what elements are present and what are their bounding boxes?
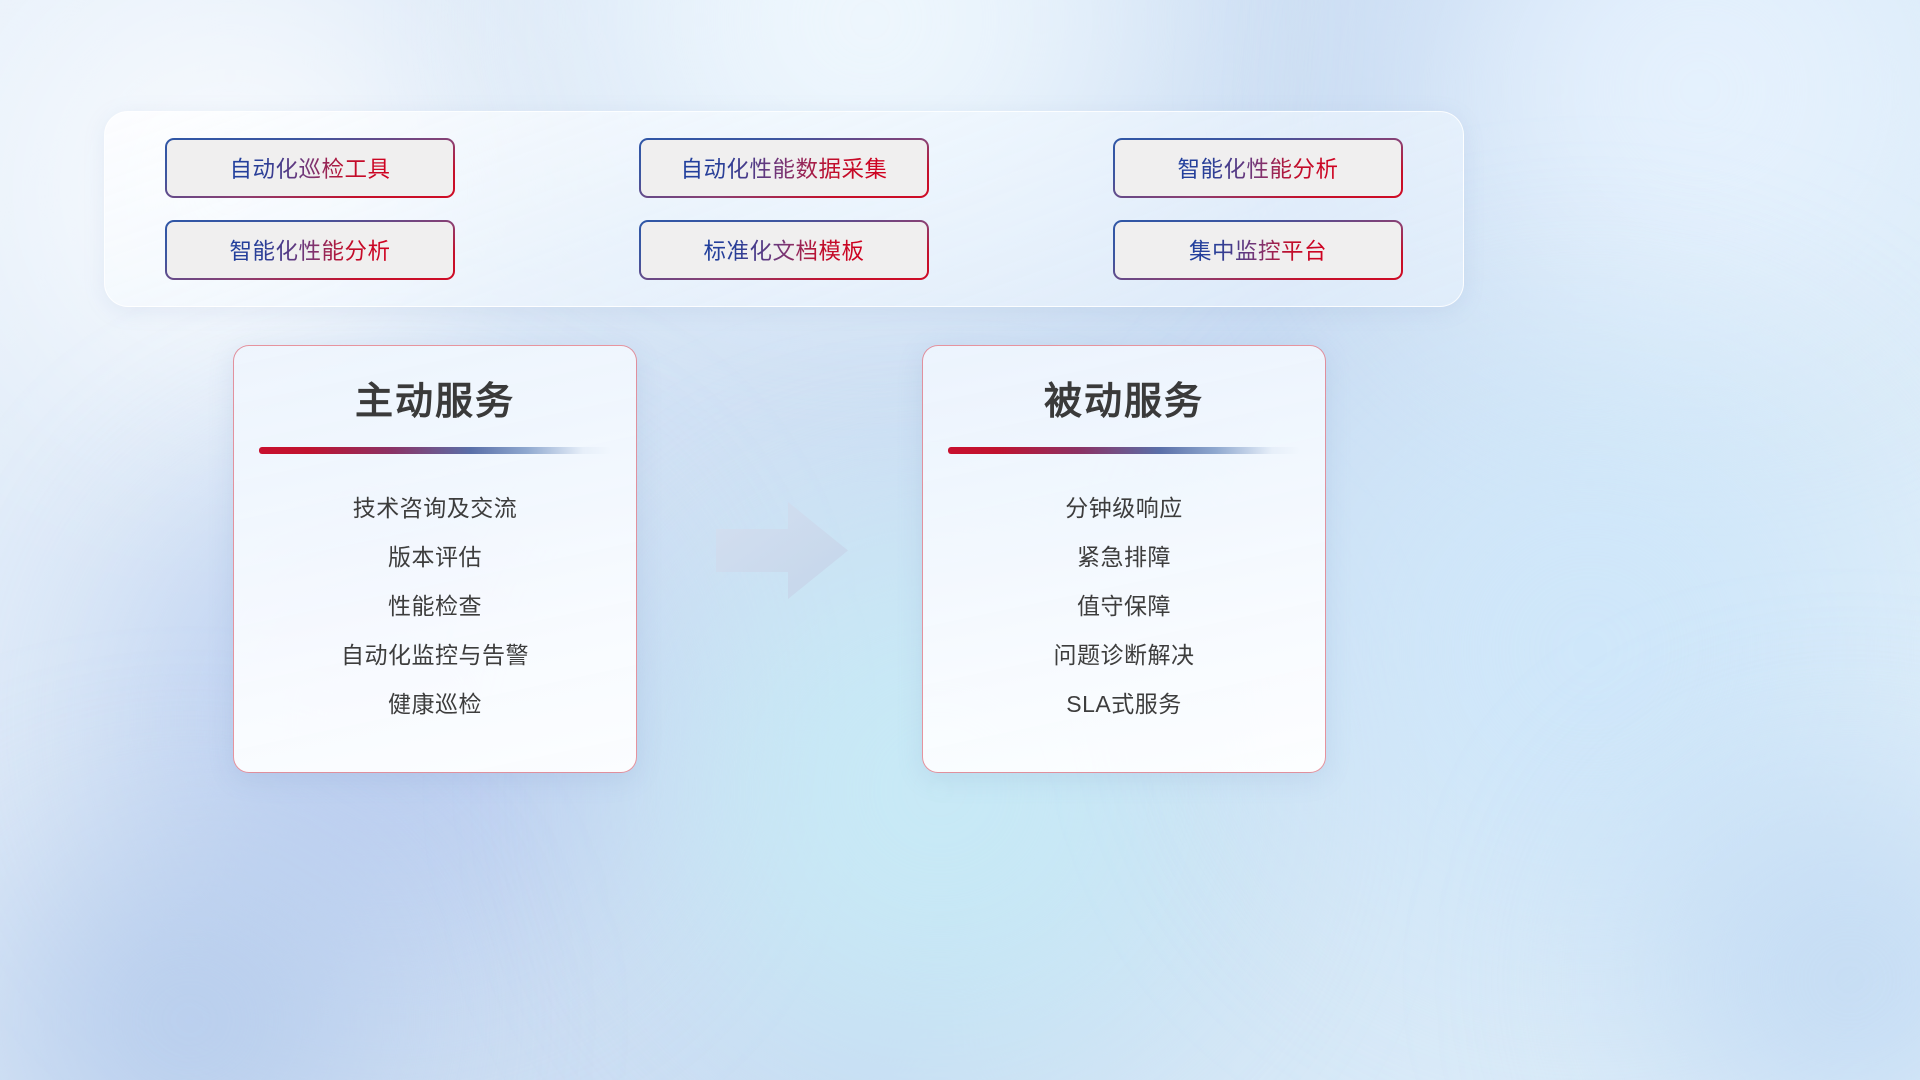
capability-row-1: 自动化巡检工具 自动化性能数据采集 智能化性能分析 — [165, 138, 1403, 198]
card-title: 被动服务 — [923, 370, 1325, 425]
capability-pill-label: 标准化文档模板 — [703, 234, 864, 266]
capability-pill-intelligent-performance-analysis-2[interactable]: 智能化性能分析 — [165, 220, 455, 280]
capability-pill-label: 集中监控平台 — [1189, 234, 1327, 266]
card-title: 主动服务 — [234, 370, 636, 425]
capability-pill-automated-performance-collection[interactable]: 自动化性能数据采集 — [639, 138, 929, 198]
card-item-list: 分钟级响应 紧急排障 值守保障 问题诊断解决 SLA式服务 — [923, 484, 1325, 729]
list-item: 紧急排障 — [923, 533, 1325, 582]
list-item: 值守保障 — [923, 582, 1325, 631]
service-card-reactive[interactable]: 被动服务 分钟级响应 紧急排障 值守保障 问题诊断解决 SLA式服务 — [922, 345, 1326, 773]
capability-pill-label: 智能化性能分析 — [229, 234, 390, 266]
service-card-proactive[interactable]: 主动服务 技术咨询及交流 版本评估 性能检查 自动化监控与告警 健康巡检 — [233, 345, 637, 773]
list-item: 技术咨询及交流 — [234, 484, 636, 533]
list-item: 自动化监控与告警 — [234, 631, 636, 680]
list-item: SLA式服务 — [923, 680, 1325, 729]
capability-pill-standard-document-template[interactable]: 标准化文档模板 — [639, 220, 929, 280]
card-title-divider — [948, 447, 1300, 454]
list-item: 健康巡检 — [234, 680, 636, 729]
capability-pill-label: 自动化巡检工具 — [229, 152, 390, 184]
capability-pill-intelligent-performance-analysis[interactable]: 智能化性能分析 — [1113, 138, 1403, 198]
capability-pill-centralized-monitoring-platform[interactable]: 集中监控平台 — [1113, 220, 1403, 280]
card-item-list: 技术咨询及交流 版本评估 性能检查 自动化监控与告警 健康巡检 — [234, 484, 636, 729]
capability-band: 自动化巡检工具 自动化性能数据采集 智能化性能分析 智能化性能分析 标准化文档模… — [104, 111, 1464, 307]
card-title-divider — [259, 447, 611, 454]
capability-pill-label: 自动化性能数据采集 — [680, 152, 887, 184]
arrow-right-icon — [716, 502, 848, 599]
list-item: 版本评估 — [234, 533, 636, 582]
capability-pill-automated-inspection-tool[interactable]: 自动化巡检工具 — [165, 138, 455, 198]
list-item: 性能检查 — [234, 582, 636, 631]
list-item: 分钟级响应 — [923, 484, 1325, 533]
list-item: 问题诊断解决 — [923, 631, 1325, 680]
capability-pill-label: 智能化性能分析 — [1177, 152, 1338, 184]
capability-row-2: 智能化性能分析 标准化文档模板 集中监控平台 — [165, 220, 1403, 280]
